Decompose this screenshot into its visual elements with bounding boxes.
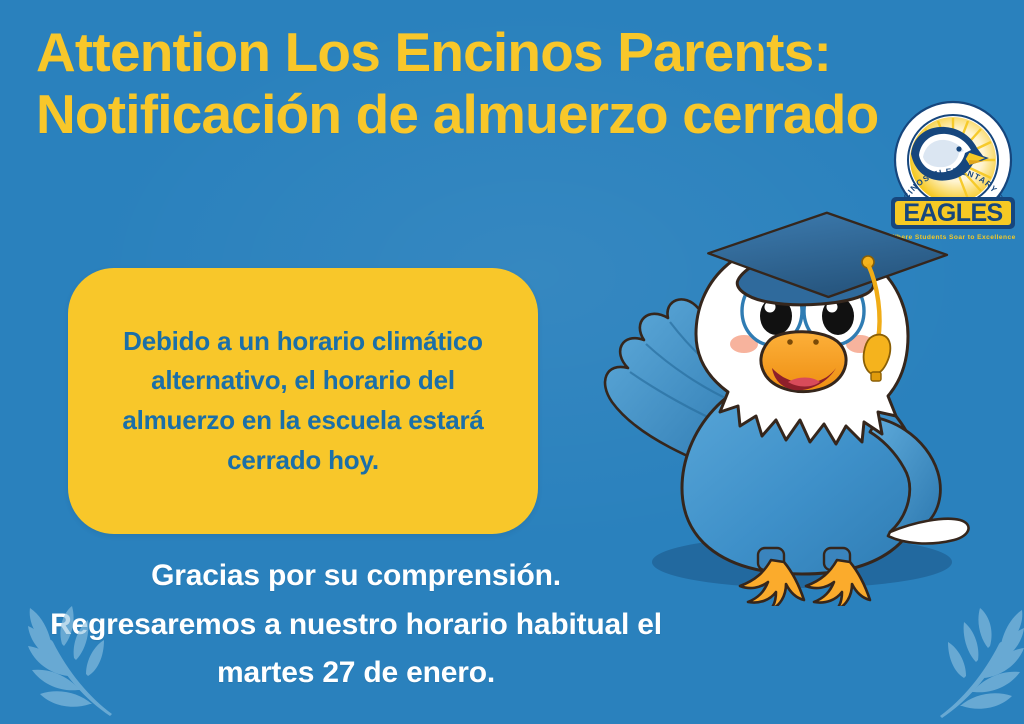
notice-callout-box: Debido a un horario climático alternativ… <box>68 268 538 534</box>
poster-canvas: Attention Los Encinos Parents: Notificac… <box>0 0 1024 724</box>
notice-callout-text: Debido a un horario climático alternativ… <box>68 322 538 480</box>
eagle-mascot-graduate-icon <box>578 176 1024 606</box>
page-title: Attention Los Encinos Parents: Notificac… <box>36 22 916 145</box>
leaf-branch-icon-right <box>918 606 1024 724</box>
mascot-beak <box>761 332 846 392</box>
leaf-branch-icon-left <box>14 604 134 724</box>
